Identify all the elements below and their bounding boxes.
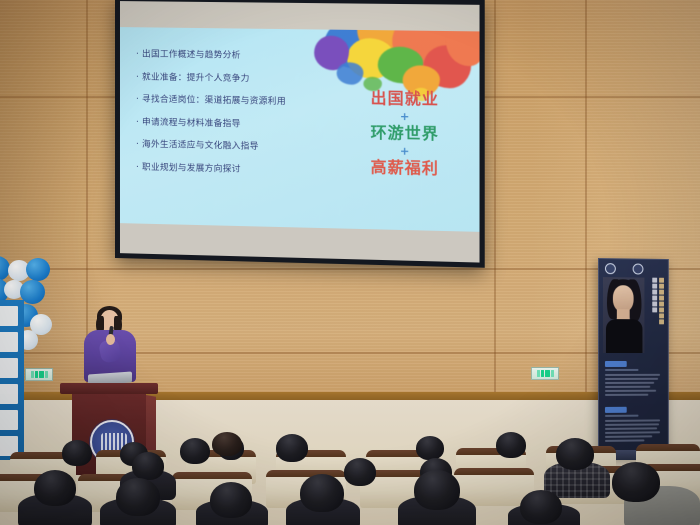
slide-bullet-list: 出国工作概述与趋势分析 就业准备：提升个人竞争力 寻找合适岗位：渠道拓展与资源利… — [136, 47, 339, 176]
slide-bullet: 职业规划与发展方向探讨 — [136, 160, 339, 176]
slide-bullet: 寻找合适岗位：渠道拓展与资源利用 — [136, 92, 339, 107]
speaker-hand — [106, 334, 115, 345]
banner-vertical-title — [642, 278, 664, 340]
banner-logo-right — [633, 263, 647, 274]
lectern-top — [60, 383, 158, 394]
slide-headline: 出国就业 + 环游世界 + 高薪福利 — [347, 89, 463, 180]
wall-seam — [0, 268, 700, 270]
audience-head — [132, 452, 164, 480]
audience-head — [520, 490, 562, 524]
exit-sign-right — [531, 367, 559, 380]
banner-section-subheading — [605, 415, 639, 417]
audience-head — [416, 436, 444, 460]
presentation-slide: 出国工作概述与趋势分析 就业准备：提升个人竞争力 寻找合适岗位：渠道拓展与资源利… — [120, 27, 480, 232]
audience-head — [116, 478, 160, 516]
banner-logo-left — [605, 263, 619, 274]
audience-head — [556, 438, 594, 470]
exit-sign-icon — [31, 371, 48, 378]
audience-head — [62, 440, 92, 466]
audience-head — [180, 438, 210, 464]
slide-bullet: 就业准备：提升个人竞争力 — [136, 70, 339, 85]
lecture-hall-photo: 出国工作概述与趋势分析 就业准备：提升个人竞争力 寻找合适岗位：渠道拓展与资源利… — [0, 0, 700, 525]
audience-head — [344, 458, 376, 486]
banner-section-guest-intro — [605, 361, 662, 398]
slide-bullet: 海外生活适应与文化融入指导 — [136, 137, 339, 153]
exit-sign-left — [25, 368, 53, 381]
banner-section-heading — [605, 361, 627, 367]
headline-line-2: 环游世界 — [347, 123, 463, 145]
audience-head — [414, 470, 460, 510]
rollup-banner — [598, 258, 669, 456]
banner-section-lecture-intro — [605, 407, 662, 444]
headline-line-3: 高薪福利 — [347, 157, 463, 180]
screen-surface: 出国工作概述与趋势分析 就业准备：提升个人竞争力 寻找合适岗位：渠道拓展与资源利… — [120, 1, 480, 262]
audience-head — [496, 432, 526, 458]
audience-head — [210, 482, 252, 518]
audience-head — [300, 474, 344, 512]
banner-section-subheading — [605, 369, 639, 371]
projection-screen: 出国工作概述与趋势分析 就业准备：提升个人竞争力 寻找合适岗位：渠道拓展与资源利… — [115, 0, 485, 268]
exit-sign-icon — [537, 370, 554, 377]
left-standing-banner — [0, 300, 24, 460]
audience-head — [612, 462, 660, 502]
headline-line-1: 出国就业 — [347, 89, 463, 111]
audience-head — [276, 434, 308, 462]
banner-section-heading — [605, 407, 627, 413]
audience-head — [212, 432, 242, 456]
slide-bullet: 出国工作概述与趋势分析 — [136, 47, 339, 62]
audience-head — [34, 470, 76, 506]
banner-portrait-photo — [603, 277, 644, 353]
slide-bullet: 申请流程与材料准备指导 — [136, 115, 339, 131]
